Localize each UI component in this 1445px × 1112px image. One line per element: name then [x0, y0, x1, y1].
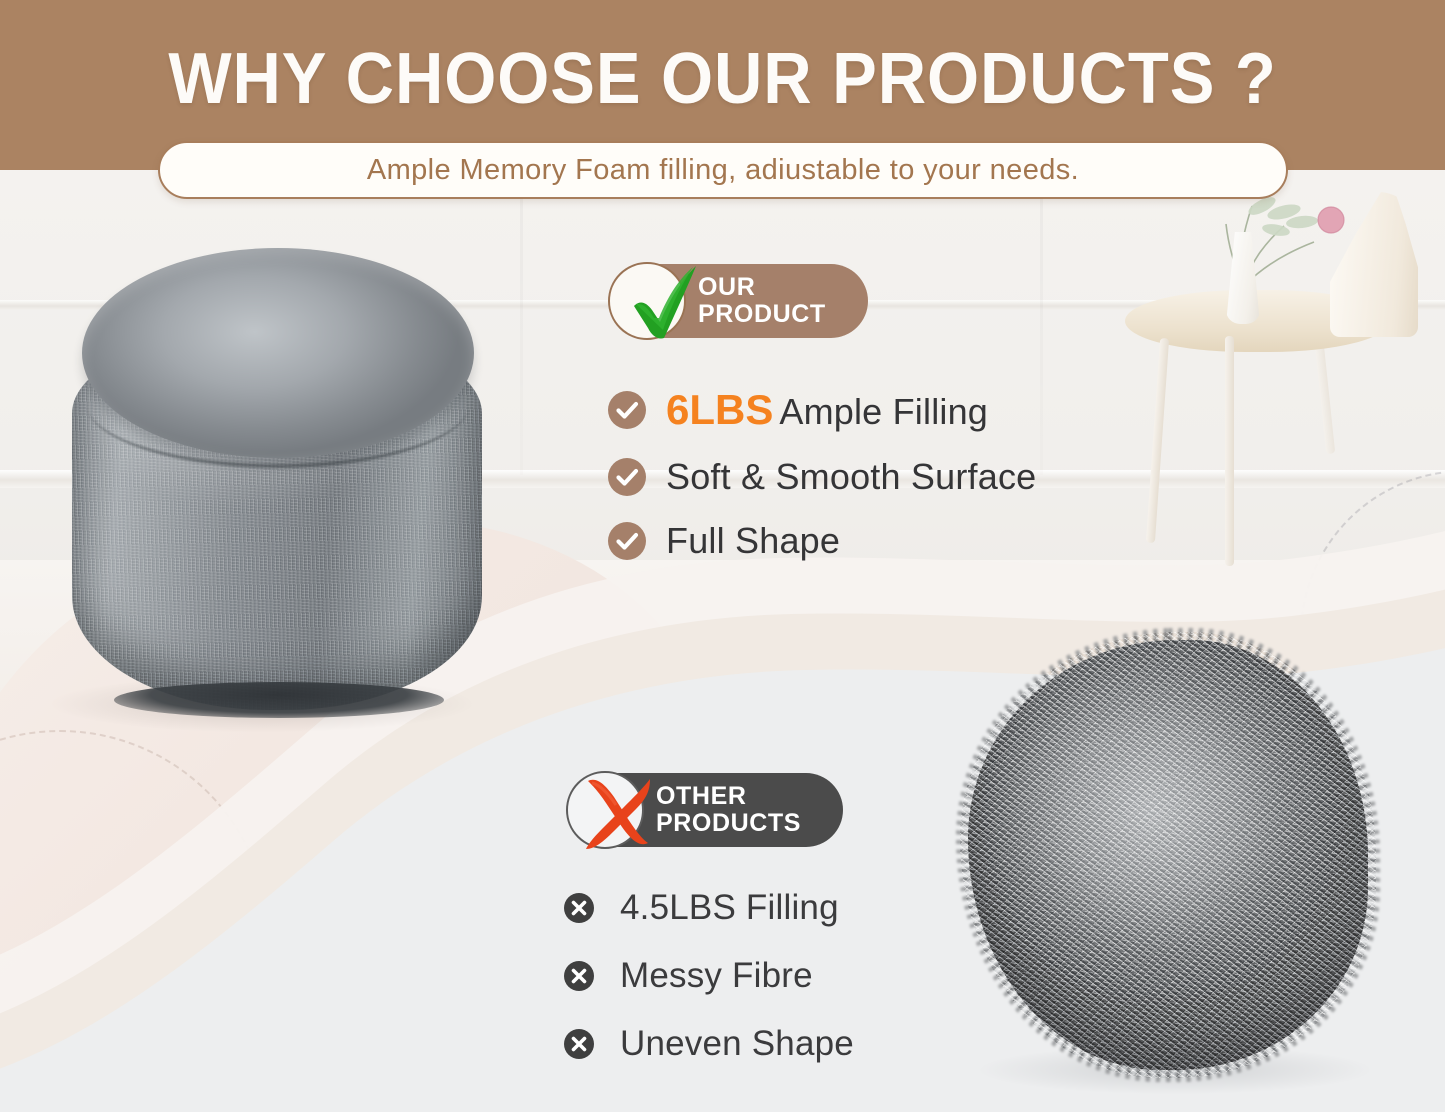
feature-label: Soft & Smooth Surface — [666, 456, 1036, 498]
list-item: Messy Fibre — [564, 956, 854, 996]
badge-line-1: OUR — [698, 274, 826, 301]
badge-line-2: PRODUCTS — [656, 810, 801, 837]
feature-highlight: 6LBS — [666, 386, 773, 433]
cross-circle-icon — [564, 961, 594, 991]
check-circle-icon — [608, 458, 646, 496]
table-leg — [1314, 334, 1335, 454]
feature-text: Ample Filling — [779, 391, 988, 432]
pouf-base-trim — [114, 682, 444, 718]
badge-line-2: PRODUCT — [698, 301, 826, 328]
check-circle-icon — [608, 522, 646, 560]
feature-label: 6LBSAmple Filling — [666, 386, 988, 434]
badge-text: OUR PRODUCT — [698, 274, 826, 328]
other-products-feature-list: 4.5LBS Filling Messy Fibre Uneven Shape — [564, 888, 854, 1092]
list-item: 4.5LBS Filling — [564, 888, 854, 928]
subtitle-pill: Ample Memory Foam filling, adiustable to… — [158, 141, 1288, 199]
badge-text: OTHER PRODUCTS — [656, 783, 801, 837]
table-leg — [1146, 338, 1169, 543]
badge-line-1: OTHER — [656, 783, 801, 810]
list-item: Uneven Shape — [564, 1024, 854, 1064]
pouf-top-cushion — [82, 248, 474, 458]
table-leg — [1225, 336, 1234, 566]
feature-label: Uneven Shape — [620, 1024, 854, 1064]
infographic-root: 6 118 — [0, 0, 1445, 1112]
feature-label: Messy Fibre — [620, 956, 813, 996]
list-item: Soft & Smooth Surface — [608, 456, 1036, 498]
our-product-feature-list: 6LBSAmple Filling Soft & Smooth Surface … — [608, 386, 1036, 584]
list-item: Full Shape — [608, 520, 1036, 562]
lumpy-blob-body — [968, 640, 1368, 1070]
red-cross-icon — [574, 765, 666, 857]
list-item: 6LBSAmple Filling — [608, 386, 1036, 434]
feature-label: Full Shape — [666, 520, 840, 562]
shaggy-fibre-texture — [960, 632, 1376, 1078]
our-product-badge: OUR PRODUCT — [614, 264, 868, 338]
other-products-badge: OTHER PRODUCTS — [572, 773, 843, 847]
other-product-photo — [968, 640, 1368, 1070]
page-title: WHY CHOOSE OUR PRODUCTS ? — [51, 38, 1395, 120]
feature-label: 4.5LBS Filling — [620, 888, 839, 928]
cross-circle-icon — [564, 1029, 594, 1059]
check-circle-icon — [608, 391, 646, 429]
subtitle-text: Ample Memory Foam filling, adiustable to… — [367, 154, 1079, 187]
green-check-icon — [616, 256, 708, 348]
cross-circle-icon — [564, 893, 594, 923]
our-product-photo — [68, 238, 488, 718]
